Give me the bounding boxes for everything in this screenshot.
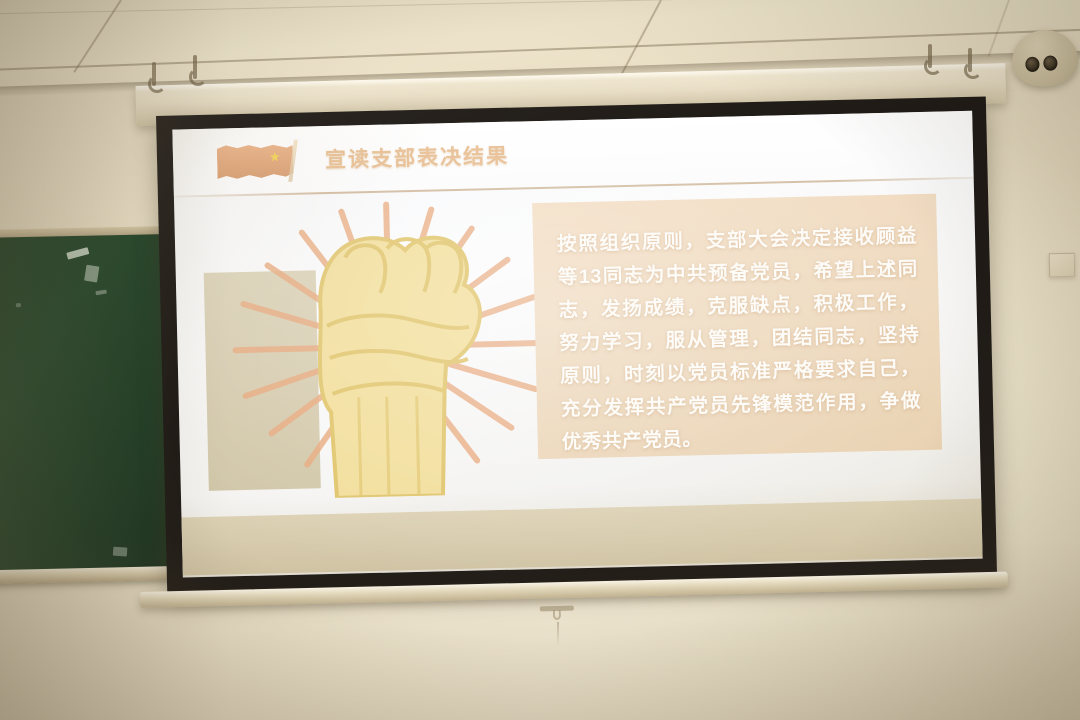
projected-slide: 宣读支部表决结果 (172, 111, 982, 578)
ceiling-hook-icon (928, 44, 932, 68)
ceiling-hook-icon (968, 48, 972, 72)
chalk-mark (16, 303, 21, 307)
wall-switch-plate[interactable] (1049, 253, 1075, 277)
handle-hook-icon (553, 610, 561, 620)
ceiling-grid-line (0, 0, 1080, 15)
resolution-text-panel: 按照组织原则，支部大会决定接收顾益等13同志为中共预备党员，希望上述同志，发扬成… (532, 194, 942, 459)
chalk-mark (113, 547, 128, 557)
flag-star-icon (269, 151, 281, 163)
classroom-scene: 宣读支部表决结果 (0, 0, 1080, 720)
chalk-mark (95, 290, 106, 296)
chalk-mark (66, 247, 89, 260)
screen-pull-cord[interactable] (557, 622, 559, 646)
flag-cloth (217, 144, 294, 180)
screen-border-frame: 宣读支部表决结果 (156, 96, 997, 593)
party-flag-icon (217, 140, 304, 182)
camera-lens-icon (1025, 56, 1040, 72)
ceiling-hook-icon (152, 62, 156, 86)
camera-lens-icon (1043, 55, 1058, 71)
chalk-mark (84, 265, 99, 283)
resolution-text: 按照组织原则，支部大会决定接收顾益等13同志为中共预备党员，希望上述同志，发扬成… (557, 220, 922, 459)
ceiling-grid-line (988, 0, 1010, 57)
slide-footer-band (181, 499, 982, 576)
raised-fist-with-sunburst-icon (226, 193, 553, 500)
ceiling-hook-icon (193, 55, 197, 79)
slide-title: 宣读支部表决结果 (325, 140, 510, 174)
slide-body: 按照组织原则，支部大会决定接收顾益等13同志为中共预备党员，希望上述同志，发扬成… (174, 177, 983, 576)
projection-screen[interactable]: 宣读支部表决结果 (156, 96, 997, 593)
